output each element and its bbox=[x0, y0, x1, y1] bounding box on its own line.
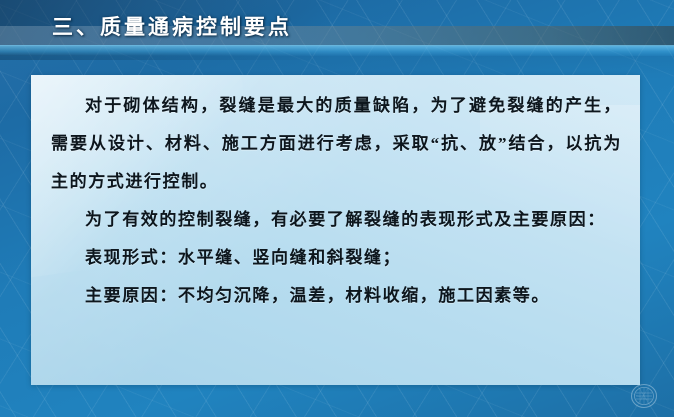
content-panel: 对于砌体结构，裂缝是最大的质量缺陷，为了避免裂缝的产生，需要从设计、材料、施工方… bbox=[31, 75, 640, 385]
paragraph-purpose: 为了有效的控制裂缝，有必要了解裂缝的表现形式及主要原因： bbox=[51, 201, 622, 239]
slide-canvas: 三、质量通病控制要点 对于砌体结构，裂缝是最大的质量缺陷，为了避免裂缝的产生，需… bbox=[0, 0, 674, 417]
page-title: 三、质量通病控制要点 bbox=[52, 14, 292, 40]
paragraph-intro: 对于砌体结构，裂缝是最大的质量缺陷，为了避免裂缝的产生，需要从设计、材料、施工方… bbox=[51, 87, 622, 201]
circular-seal-watermark-icon bbox=[630, 383, 658, 409]
paragraph-forms: 表现形式：水平缝、竖向缝和斜裂缝； bbox=[51, 239, 622, 277]
paragraph-causes: 主要原因：不均匀沉降，温差，材料收缩，施工因素等。 bbox=[51, 277, 622, 315]
header-underline bbox=[0, 45, 674, 56]
content-body: 对于砌体结构，裂缝是最大的质量缺陷，为了避免裂缝的产生，需要从设计、材料、施工方… bbox=[31, 75, 640, 315]
